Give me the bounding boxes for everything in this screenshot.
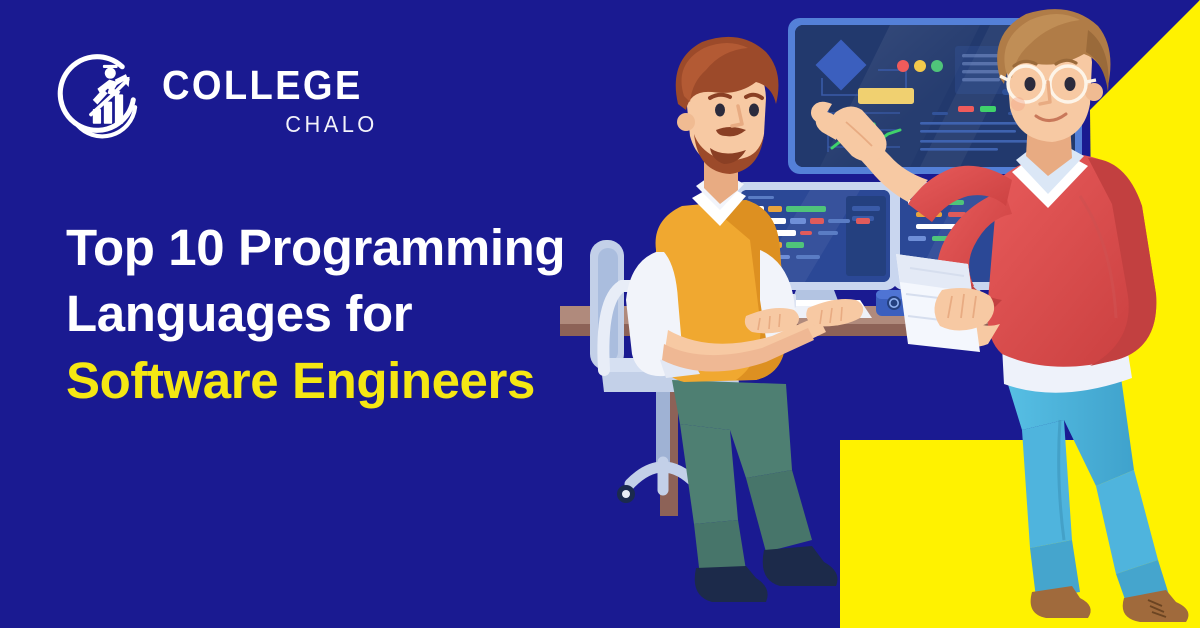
headline-line-1: Top 10 Programming: [66, 215, 666, 281]
status-dot-red: [897, 60, 909, 72]
headline: Top 10 Programming Languages for Softwar…: [66, 215, 666, 414]
logo-wordmark: COLLEGE CHALO: [162, 61, 378, 136]
logo[interactable]: COLLEGE CHALO: [56, 52, 378, 144]
logo-mark-icon: [56, 52, 148, 144]
status-dot-yellow: [914, 60, 926, 72]
status-dot-green: [931, 60, 943, 72]
highlight-bar: [858, 88, 914, 104]
headline-line-3-accent: Software Engineers: [66, 348, 666, 414]
headline-line-2: Languages for: [66, 281, 666, 347]
logo-secondary-text: CHALO: [173, 113, 378, 136]
tag-green: [980, 106, 996, 112]
tag-red: [958, 106, 974, 112]
logo-primary-text: COLLEGE: [162, 65, 363, 106]
banner-root: COLLEGE CHALO Top 10 Programming Languag…: [0, 0, 1200, 628]
